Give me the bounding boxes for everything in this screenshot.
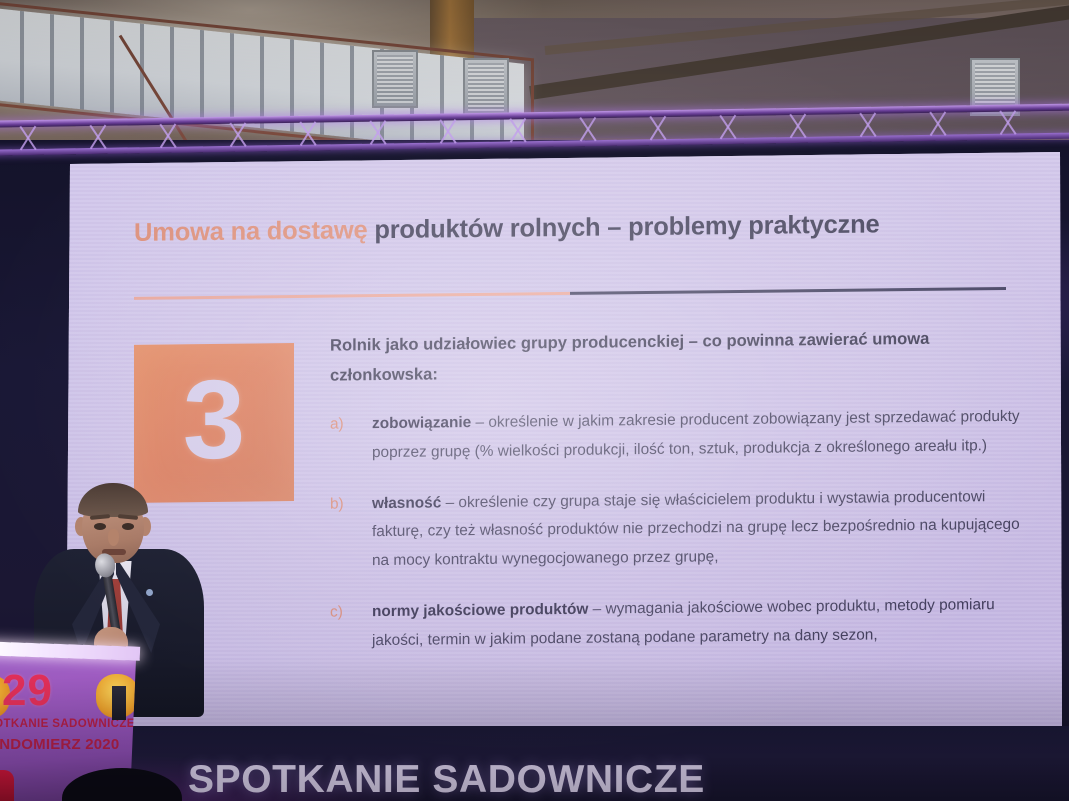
- truss-cross-brace: [10, 124, 44, 153]
- truss-cross-brace: [710, 113, 744, 142]
- microphone-head: [93, 552, 117, 579]
- podium-event-location-year: SANDOMIERZ 2020: [0, 736, 136, 753]
- bullet-marker: c): [330, 598, 343, 627]
- truss-cross-brace: [290, 119, 324, 148]
- banner-title-text: SPOTKANIE SADOWNICZE: [188, 758, 705, 801]
- speaker-eye-right: [122, 523, 134, 530]
- truss-cross-brace: [850, 111, 884, 140]
- list-item: b) własność – określenie czy grupa staje…: [330, 482, 1020, 576]
- truss-cross-brace: [640, 114, 674, 143]
- bullet-term: normy jakościowe produktów: [372, 601, 588, 620]
- projection-screen: Umowa na dostawę produktów rolnych – pro…: [62, 152, 1062, 734]
- speaker-lapel-pin: [146, 589, 153, 596]
- podium-edition-number: 29: [2, 666, 53, 716]
- truss-cross-brace: [570, 115, 604, 144]
- podium-dark-card: [112, 686, 126, 720]
- speaker-hair: [78, 483, 148, 517]
- slide-title-accent: Umowa na dostawę: [134, 216, 367, 247]
- bullet-text: – określenie czy grupa staje się właścic…: [372, 488, 1020, 570]
- presentation-slide: Umowa na dostawę produktów rolnych – pro…: [62, 146, 1062, 739]
- speaker-nose: [108, 529, 119, 546]
- bullet-marker: b): [330, 490, 344, 519]
- truss-cross-brace: [220, 120, 254, 149]
- bullet-term: zobowiązanie: [372, 414, 471, 432]
- section-number-badge: 3: [134, 343, 294, 503]
- conference-photo: Umowa na dostawę produktów rolnych – pro…: [0, 0, 1069, 801]
- ceiling-vent-1: [372, 50, 418, 108]
- bullet-term: własność: [372, 494, 441, 512]
- truss-cross-brace: [80, 123, 114, 152]
- title-divider-rule: [134, 287, 1006, 300]
- truss-cross-brace: [990, 108, 1024, 137]
- truss-cross-brace: [500, 116, 534, 145]
- ceiling-vent-2: [463, 58, 509, 116]
- podium-red-accent: [0, 770, 14, 801]
- truss-cross-brace: [430, 117, 464, 146]
- bullet-marker: a): [330, 410, 344, 439]
- section-number-value: 3: [183, 364, 245, 477]
- speaker-eye-left: [94, 523, 106, 530]
- truss-cross-brace: [150, 122, 184, 151]
- truss-cross-brace: [780, 112, 814, 141]
- slide-title: Umowa na dostawę produktów rolnych – pro…: [134, 209, 1034, 248]
- truss-cross-brace: [360, 118, 394, 147]
- list-item: a) zobowiązanie – określenie w jakim zak…: [330, 403, 1020, 468]
- divider-segment-salmon: [134, 292, 570, 300]
- slide-bullet-list: a) zobowiązanie – określenie w jakim zak…: [330, 403, 1020, 678]
- list-item: c) normy jakościowe produktów – wymagani…: [330, 591, 1020, 656]
- slide-title-rest: produktów rolnych – problemy praktyczne: [367, 210, 879, 244]
- slide-lead-paragraph: Rolnik jako udziałowiec grupy producenck…: [330, 323, 1002, 391]
- divider-segment-navy: [570, 287, 1006, 295]
- truss-cross-brace: [920, 109, 954, 138]
